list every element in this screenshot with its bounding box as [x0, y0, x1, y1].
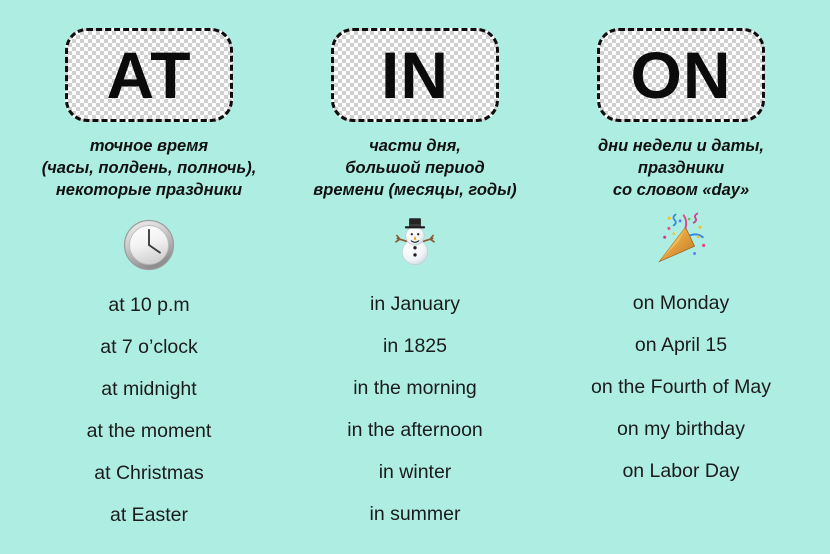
- rule-text-in: части дня, большой период времени (месяц…: [313, 136, 516, 202]
- list-item: at midnight: [101, 368, 196, 410]
- list-item: at 7 o’clock: [100, 326, 198, 368]
- list-item: on Monday: [633, 282, 729, 324]
- party-popper-emoji-svg: [652, 210, 710, 268]
- preposition-label-on: ON: [631, 42, 732, 108]
- rule-text-at: точное время (часы, полдень, полночь), н…: [42, 136, 257, 202]
- list-item: on April 15: [635, 324, 727, 366]
- preposition-column-in: IN части дня, большой период времени (ме…: [284, 28, 546, 535]
- list-item: in winter: [379, 451, 452, 493]
- preposition-chip-in: IN: [331, 28, 499, 122]
- example-list-on: on Monday on April 15 on the Fourth of M…: [550, 282, 812, 492]
- list-item: on Labor Day: [622, 450, 739, 492]
- list-item: in 1825: [383, 325, 447, 367]
- party-popper-icon: [652, 208, 710, 270]
- list-item: at Christmas: [94, 452, 203, 494]
- list-item: in the afternoon: [347, 409, 483, 451]
- prepositions-of-time-infographic: AT точное время (часы, полдень, полночь)…: [0, 0, 830, 554]
- preposition-label-in: IN: [381, 42, 449, 108]
- list-item: at the moment: [87, 410, 212, 452]
- list-item: on my birthday: [617, 408, 745, 450]
- preposition-label-at: AT: [106, 42, 191, 108]
- list-item: in summer: [369, 493, 460, 535]
- preposition-column-at: AT точное время (часы, полдень, полночь)…: [18, 28, 280, 536]
- example-list-in: in January in 1825 in the morning in the…: [284, 283, 546, 535]
- list-item: at Easter: [110, 494, 188, 536]
- clock-face-icon: [122, 214, 176, 276]
- rule-text-on: дни недели и даты, праздники со словом «…: [598, 136, 764, 202]
- snowman-icon: [388, 210, 442, 272]
- preposition-column-on: ON дни недели и даты, праздники со слово…: [550, 28, 812, 492]
- list-item: on the Fourth of May: [591, 366, 771, 408]
- clock-face-emoji-svg: [122, 218, 176, 272]
- list-item: at 10 p.m: [108, 284, 189, 326]
- example-list-at: at 10 p.m at 7 o’clock at midnight at th…: [18, 284, 280, 536]
- list-item: in January: [370, 283, 460, 325]
- preposition-chip-on: ON: [597, 28, 765, 122]
- preposition-chip-at: AT: [65, 28, 233, 122]
- list-item: in the morning: [353, 367, 477, 409]
- snowman-emoji-svg: [388, 214, 442, 268]
